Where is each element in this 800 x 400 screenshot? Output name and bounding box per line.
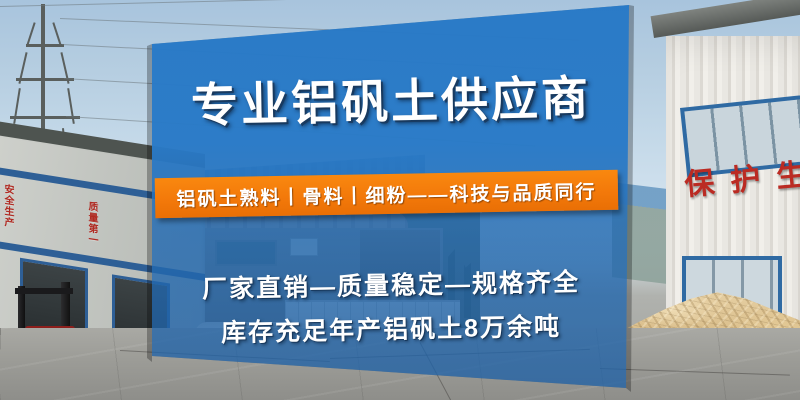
- ribbon-text: 铝矾土熟料丨骨料丨细粉——科技与品质同行: [176, 177, 596, 212]
- headline-text: 专业铝矾土供应商: [152, 73, 631, 129]
- banner-content: 专业铝矾土供应商 铝矾土熟料丨骨料丨细粉——科技与品质同行 厂家直销—质量稳定—…: [152, 0, 630, 400]
- right-roof-edge: [651, 0, 800, 38]
- subline-two: 库存充足年产铝矾土8万余吨: [152, 305, 631, 350]
- left-building-sign-2: 质量第一: [86, 200, 97, 246]
- subline-one: 厂家直销—质量稳定—规格齐全: [152, 261, 631, 306]
- promo-banner: 安全生产 质量第一 保护生态: [0, 0, 800, 400]
- orange-ribbon: 铝矾土熟料丨骨料丨细粉——科技与品质同行: [155, 170, 619, 218]
- forklift-crossbar: [15, 288, 73, 294]
- left-building-sign-1: 安全生产: [2, 183, 13, 229]
